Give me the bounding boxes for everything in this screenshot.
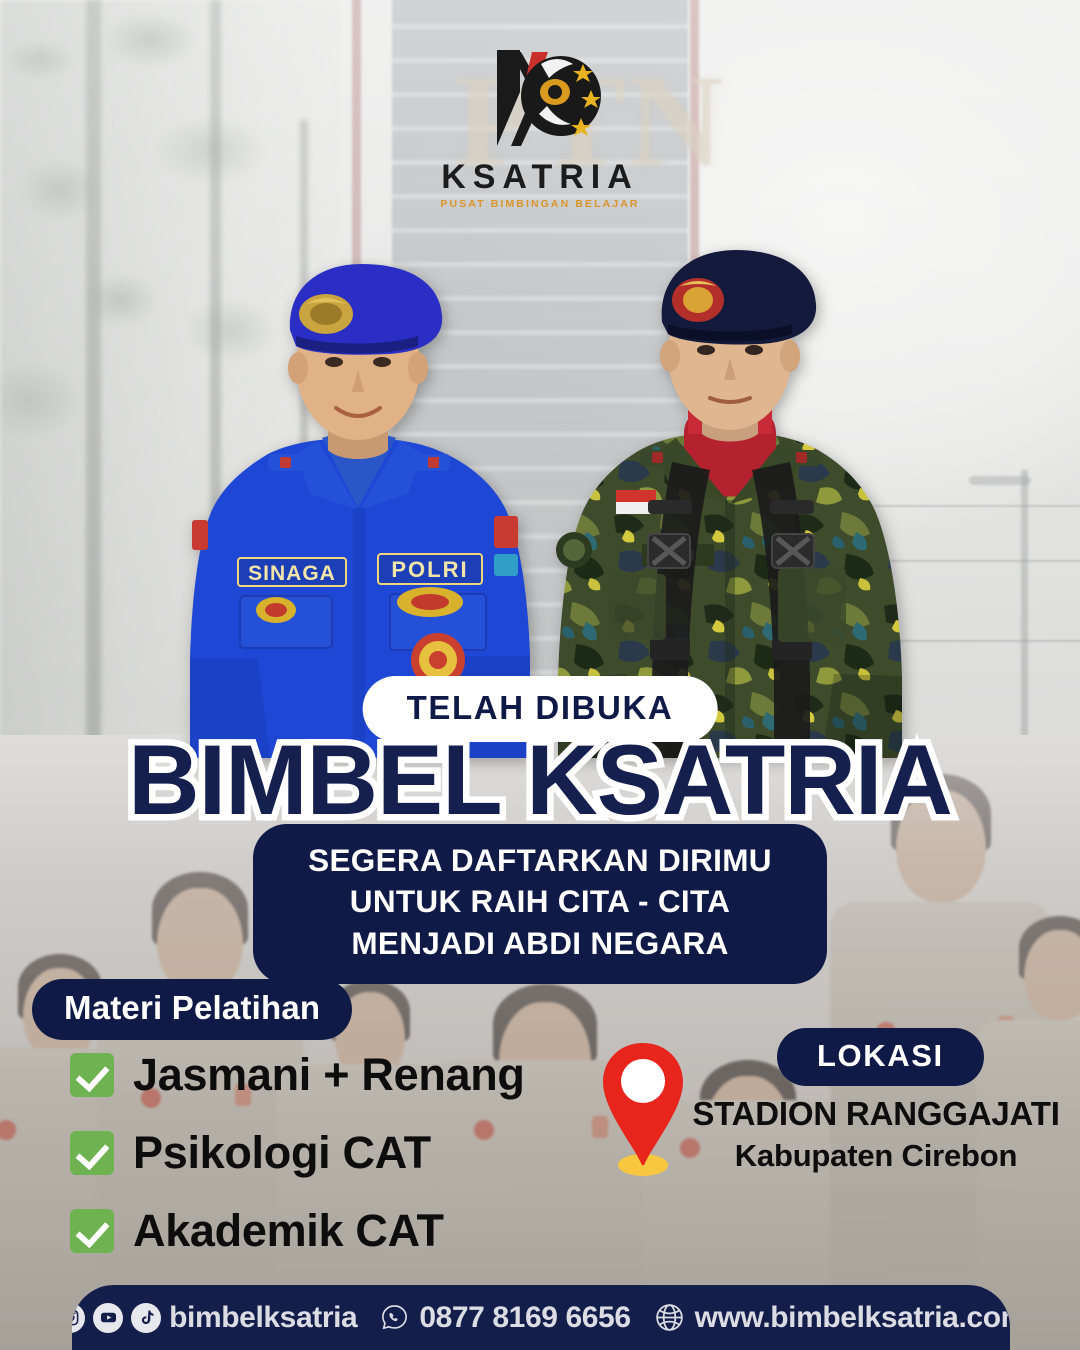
subtitle-box: SEGERA DAFTARKAN DIRIMU UNTUK RAIH CITA …	[253, 824, 827, 984]
globe-icon[interactable]	[653, 1301, 686, 1334]
location-region: Kabupaten Cirebon	[676, 1138, 1076, 1174]
tree-trunk	[86, 0, 101, 760]
training-material-heading: Materi Pelatihan	[32, 979, 352, 1040]
location-venue: STADION RANGGAJATI	[676, 1095, 1076, 1133]
website-url: www.bimbelksatria.com	[695, 1301, 1010, 1335]
subtitle-line-1: SEGERA DAFTARKAN DIRIMU	[275, 840, 805, 881]
training-material-list: Jasmani + Renang Psikologi CAT Akademik …	[70, 1036, 525, 1270]
page-title: BIMBEL KSATRIA	[0, 723, 1080, 837]
phone-number: 0877 8169 6656	[419, 1301, 630, 1335]
check-icon	[70, 1131, 114, 1175]
website-group: www.bimbelksatria.com	[653, 1301, 1010, 1335]
whatsapp-icon[interactable]	[379, 1302, 410, 1333]
list-item: Psikologi CAT	[70, 1114, 525, 1192]
social-handle: bimbelksatria	[169, 1301, 357, 1335]
list-item-label: Jasmani + Renang	[133, 1049, 525, 1101]
svg-text:POLRI: POLRI	[391, 557, 468, 582]
poster-canvas: PTN	[0, 0, 1080, 1350]
check-icon	[70, 1209, 114, 1253]
subtitle-line-3: MENJADI ABDI NEGARA	[275, 923, 805, 964]
check-icon	[70, 1053, 114, 1097]
logo-wordmark: KSATRIA	[425, 158, 655, 197]
svg-text:SINAGA: SINAGA	[248, 562, 336, 585]
location-heading: LOKASI	[777, 1028, 984, 1086]
location-text: STADION RANGGAJATI Kabupaten Cirebon	[676, 1095, 1076, 1174]
list-item-label: Akademik CAT	[133, 1205, 444, 1257]
subtitle-line-2: UNTUK RAIH CITA - CITA	[275, 881, 805, 922]
tiktok-icon[interactable]	[131, 1303, 161, 1333]
contact-footer-bar: bimbelksatria 0877 8169 6656	[72, 1285, 1010, 1350]
map-pin-icon	[600, 1039, 686, 1186]
logo-tagline: PUSAT BIMBINGAN BELAJAR	[425, 198, 655, 210]
youtube-icon[interactable]	[93, 1303, 123, 1333]
list-item: Akademik CAT	[70, 1192, 525, 1270]
eagle-eye-k-monogram-icon	[475, 42, 605, 154]
list-item-label: Psikologi CAT	[133, 1127, 431, 1179]
brand-logo: KSATRIA PUSAT BIMBINGAN BELAJAR	[425, 42, 655, 210]
social-group: bimbelksatria	[72, 1301, 357, 1335]
list-item: Jasmani + Renang	[70, 1036, 525, 1114]
whatsapp-group: 0877 8169 6656	[379, 1301, 630, 1335]
